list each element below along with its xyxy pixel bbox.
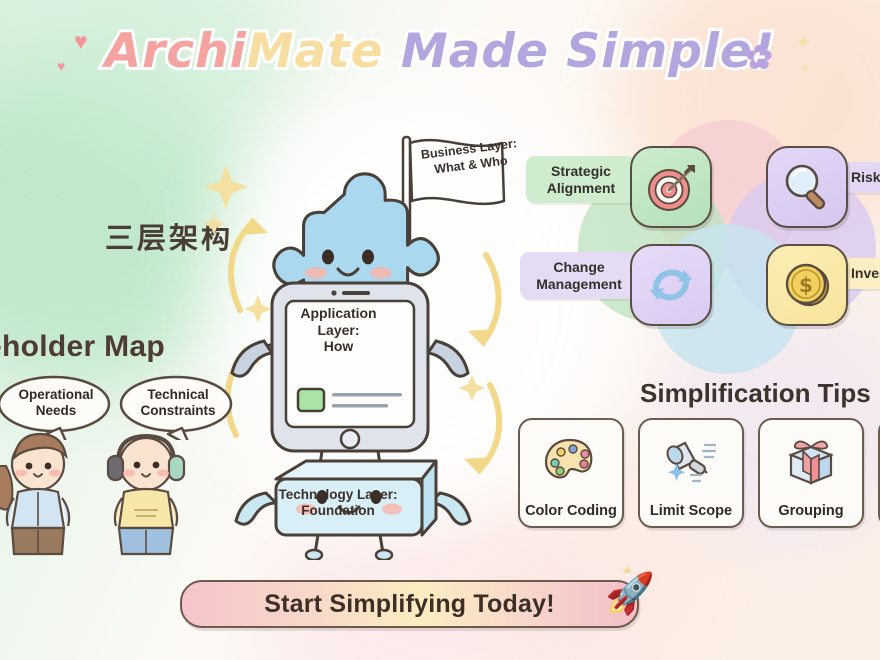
gift-box-icon: [783, 420, 839, 503]
bubble-line-1: Operational: [18, 387, 93, 403]
quad-tile-investment[interactable]: $: [766, 244, 848, 326]
title-part-archi: Archi: [105, 24, 247, 79]
quad-label-line-1: Inves: [851, 265, 880, 282]
cta-label: Start Simplifying Today!: [264, 590, 554, 619]
sparkle-icon-small: ✦: [800, 62, 810, 76]
quad-label-line-2: Alignment: [535, 180, 627, 197]
target-icon: [643, 159, 699, 215]
tablet-line-1: Application: [286, 305, 391, 322]
palette-icon: [543, 420, 599, 503]
svg-text:$: $: [799, 273, 813, 297]
character-analyst-girl: [0, 434, 69, 554]
heart-icon-small: ♥: [57, 58, 65, 74]
cube-line-2: Foundation: [272, 503, 404, 519]
poster-canvas: ArchiMate Made Simple! ♥ ♥ ✿ ✦ ✦ 三层架构: [0, 0, 880, 660]
tip-card-grouping[interactable]: Grouping: [758, 418, 864, 528]
bubble-line-1: Technical: [140, 387, 215, 403]
quad-label-strategic-alignment[interactable]: Strategic Alignment: [526, 156, 636, 203]
speech-bubble-operational-needs: Operational Needs: [0, 374, 116, 430]
quad-label-line-2: Management: [529, 276, 629, 293]
bubble-line-2: Needs: [18, 403, 93, 419]
tablet-label-application-layer: Application Layer: How: [286, 305, 391, 355]
stakeholder-characters: [0, 432, 232, 560]
telescope-icon: [663, 420, 719, 503]
blush-right: [370, 267, 392, 279]
tip-card-label: Grouping: [778, 503, 843, 519]
sparkle-icon: ✦: [795, 30, 812, 55]
cube-label-technology-layer: Technology Layer: Foundation: [272, 487, 404, 519]
eye-right: [362, 250, 374, 265]
stakeholder-map-title: keholder Map: [0, 330, 165, 364]
tip-card-label: Limit Scope: [650, 503, 732, 519]
speech-bubble-technical-constraints: Technical Constraints: [118, 374, 238, 430]
tablet-line-3: How: [286, 338, 391, 355]
concern-quadrant: Strategic Alignment Change Management Ri…: [540, 128, 880, 343]
quad-label-change-management[interactable]: Change Management: [520, 252, 638, 299]
quad-tile-strategic-alignment[interactable]: [630, 146, 712, 228]
tip-card-limit-scope[interactable]: Limit Scope: [638, 418, 744, 528]
title-part-mate: Mate: [247, 24, 384, 79]
heart-icon: ♥: [74, 28, 88, 55]
cta-banner[interactable]: Start Simplifying Today!: [180, 580, 639, 628]
simplification-tips-title: Simplification Tips: [640, 378, 871, 409]
quad-tile-change-management[interactable]: [630, 244, 712, 326]
rocket-icon: 🚀: [605, 570, 655, 617]
flower-icon: ✿: [745, 38, 774, 78]
quad-label-line-1: Change: [529, 259, 629, 276]
quad-label-line-1: Risk: [851, 169, 880, 186]
title-part-made-simple: Made Simple!: [384, 24, 776, 79]
tip-card-color-coding[interactable]: Color Coding: [518, 418, 624, 528]
refresh-cycle-icon: [644, 258, 698, 312]
tip-card-label: Color Coding: [525, 503, 617, 519]
quad-label-line-1: Strategic: [535, 163, 627, 180]
character-engineer-headphones: [108, 436, 184, 554]
bubble-line-2: Constraints: [140, 403, 215, 419]
blush-left: [305, 267, 327, 279]
magnifier-icon: [779, 159, 835, 215]
coin-dollar-icon: $: [781, 259, 833, 311]
quad-tile-risk[interactable]: [766, 146, 848, 228]
eye-left: [322, 250, 334, 265]
tablet-line-2: Layer:: [286, 322, 391, 339]
cube-line-1: Technology Layer:: [272, 487, 404, 503]
simplification-tips-row: Color Coding Limit Scope: [518, 418, 880, 528]
